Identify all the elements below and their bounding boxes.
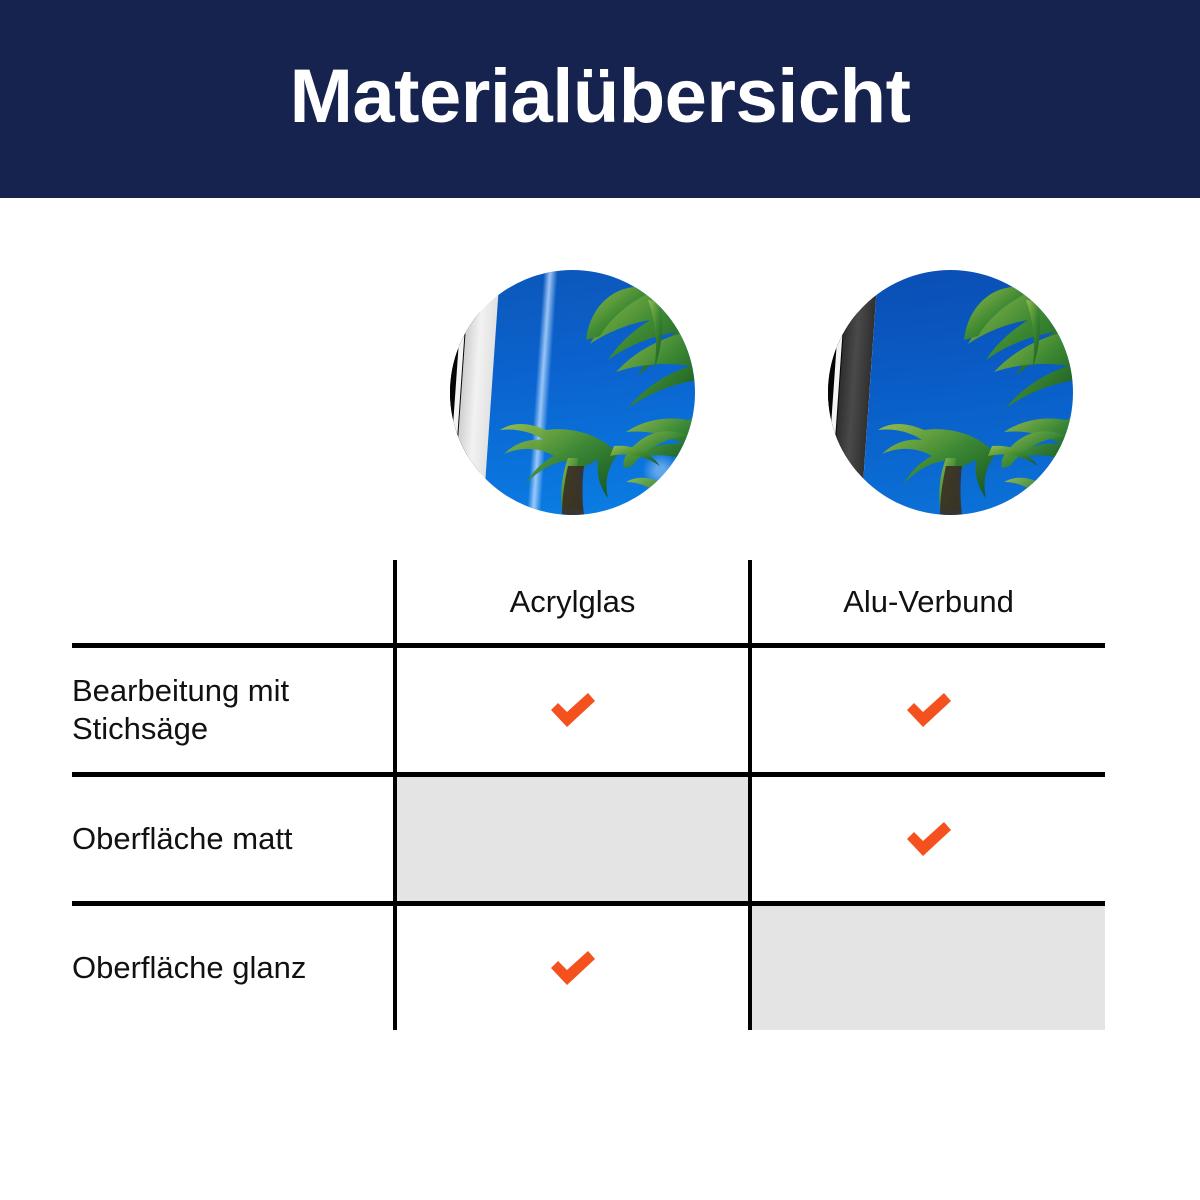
row-label-line1: Bearbeitung mit	[72, 672, 393, 710]
check-icon	[546, 947, 600, 989]
cell-matt-alu-verbund	[750, 775, 1105, 904]
row-label-oberflaeche-matt: Oberfläche matt	[72, 775, 395, 904]
alu-verbund-scene	[828, 270, 1073, 515]
table-header-row: Acrylglas Alu-Verbund	[72, 560, 1105, 646]
material-overview-page: Materialübersicht	[0, 0, 1200, 1200]
cell-bearbeitung-alu-verbund	[750, 646, 1105, 775]
column-header-acrylglas: Acrylglas	[395, 560, 750, 646]
cell-glanz-alu-verbund	[750, 904, 1105, 1031]
row-label-line1: Oberfläche matt	[72, 820, 393, 858]
row-label-line2: Stichsäge	[72, 710, 393, 748]
palm-trees-icon	[828, 270, 1073, 515]
row-label-oberflaeche-glanz: Oberfläche glanz	[72, 904, 395, 1031]
cell-glanz-acrylglas	[395, 904, 750, 1031]
check-icon	[902, 818, 956, 860]
palm-trees-icon	[450, 270, 695, 515]
acrylglas-sample-image	[450, 270, 695, 515]
page-title: Materialübersicht	[0, 0, 1200, 198]
comparison-table: Acrylglas Alu-Verbund Bearbeitung mit St…	[72, 560, 1105, 1030]
row-label-bearbeitung: Bearbeitung mit Stichsäge	[72, 646, 395, 775]
table-row: Oberfläche matt	[72, 775, 1105, 904]
check-icon	[546, 689, 600, 731]
acrylglas-scene	[450, 270, 695, 515]
table-row: Oberfläche glanz	[72, 904, 1105, 1031]
table-corner-cell	[72, 560, 395, 646]
cell-matt-acrylglas	[395, 775, 750, 904]
material-comparison-table: Acrylglas Alu-Verbund Bearbeitung mit St…	[72, 560, 1105, 1015]
check-icon	[902, 689, 956, 731]
material-samples	[0, 270, 1200, 515]
row-label-line1: Oberfläche glanz	[72, 949, 393, 987]
column-header-alu-verbund: Alu-Verbund	[750, 560, 1105, 646]
header-banner: Materialübersicht	[0, 0, 1200, 198]
alu-verbund-sample-image	[828, 270, 1073, 515]
table-row: Bearbeitung mit Stichsäge	[72, 646, 1105, 775]
cell-bearbeitung-acrylglas	[395, 646, 750, 775]
